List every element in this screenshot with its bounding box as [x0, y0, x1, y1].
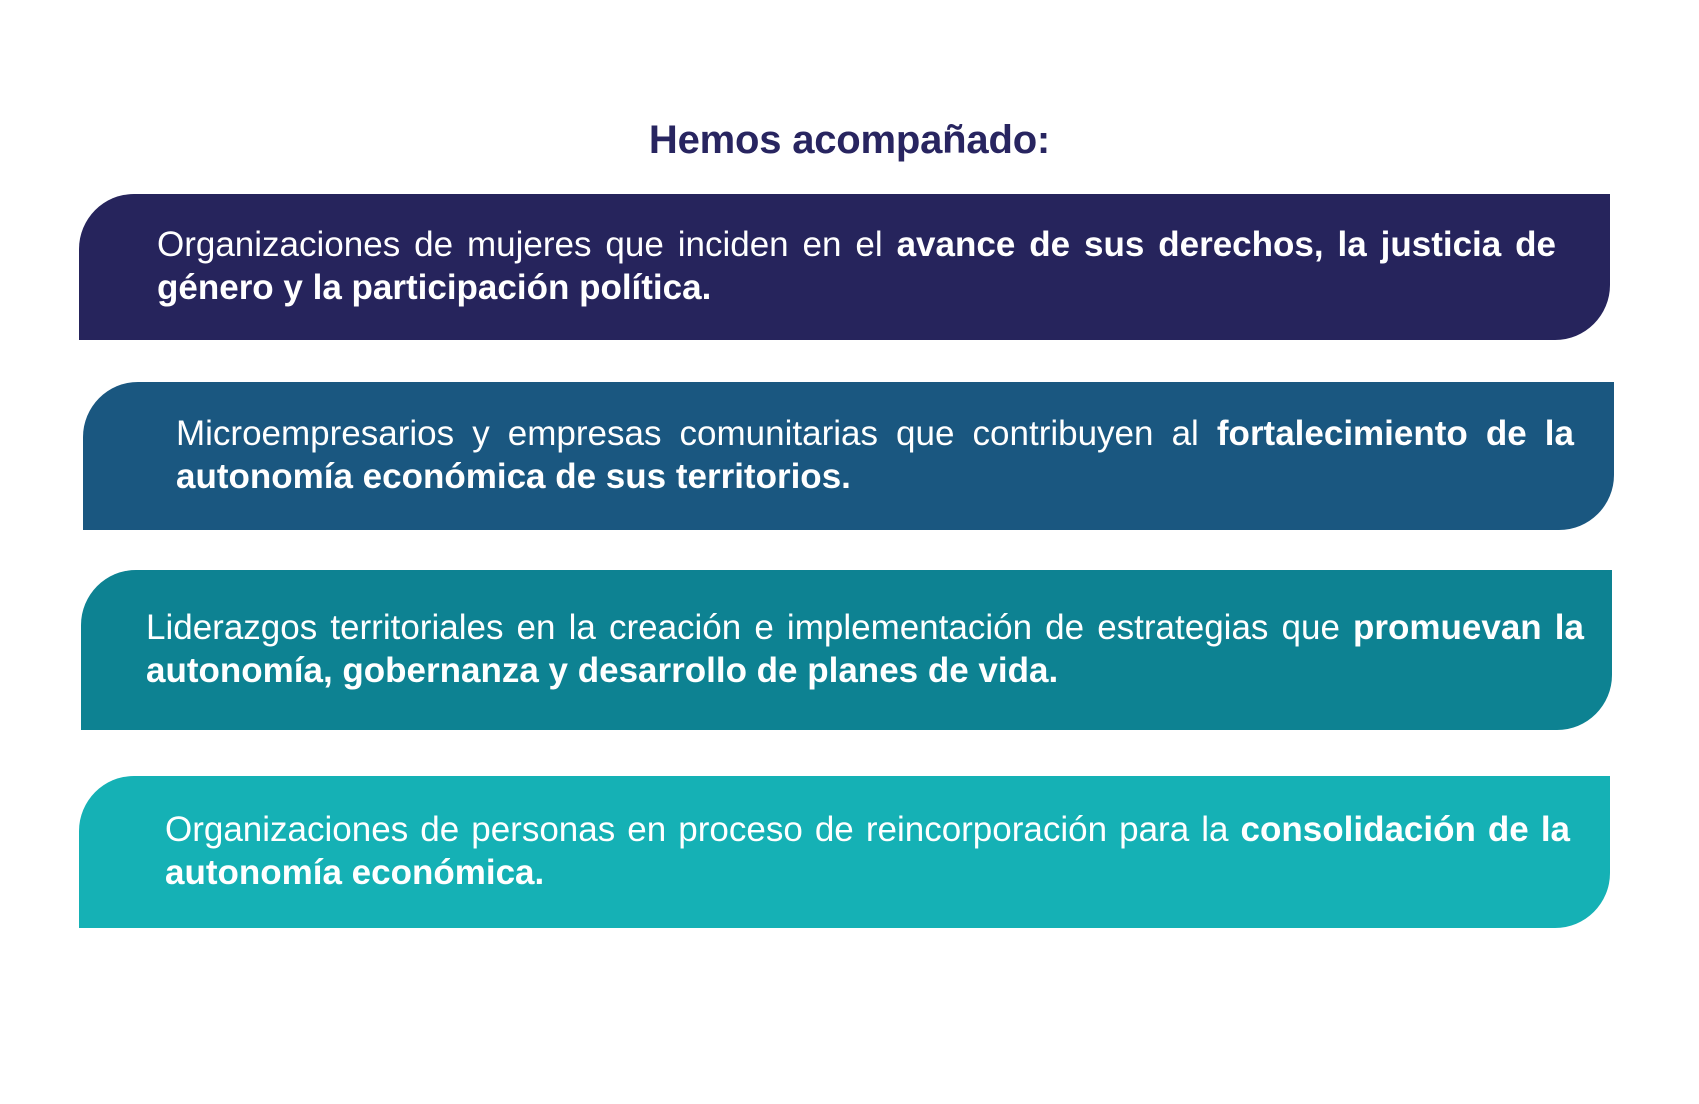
card-1-regular-text: Organizaciones de mujeres que inciden en…: [157, 225, 897, 264]
card-microempresarios: Microempresarios y empresas comunitarias…: [83, 382, 1614, 530]
card-4-regular-text: Organizaciones de personas en proceso de…: [165, 810, 1241, 849]
card-organizaciones-de-mujeres: Organizaciones de mujeres que inciden en…: [79, 194, 1610, 340]
card-1-text: Organizaciones de mujeres que inciden en…: [157, 224, 1556, 309]
card-4-text: Organizaciones de personas en proceso de…: [165, 809, 1570, 894]
card-organizaciones-reincorporacion: Organizaciones de personas en proceso de…: [79, 776, 1610, 928]
card-3-text: Liderazgos territoriales en la creación …: [146, 607, 1584, 692]
card-3-regular-text: Liderazgos territoriales en la creación …: [146, 608, 1353, 647]
card-2-text: Microempresarios y empresas comunitarias…: [176, 413, 1574, 498]
card-liderazgos-territoriales: Liderazgos territoriales en la creación …: [81, 570, 1612, 730]
card-2-regular-text: Microempresarios y empresas comunitarias…: [176, 414, 1217, 453]
page-title: Hemos acompañado:: [0, 118, 1699, 163]
slide-root: Hemos acompañado: Organizaciones de muje…: [0, 0, 1699, 1104]
